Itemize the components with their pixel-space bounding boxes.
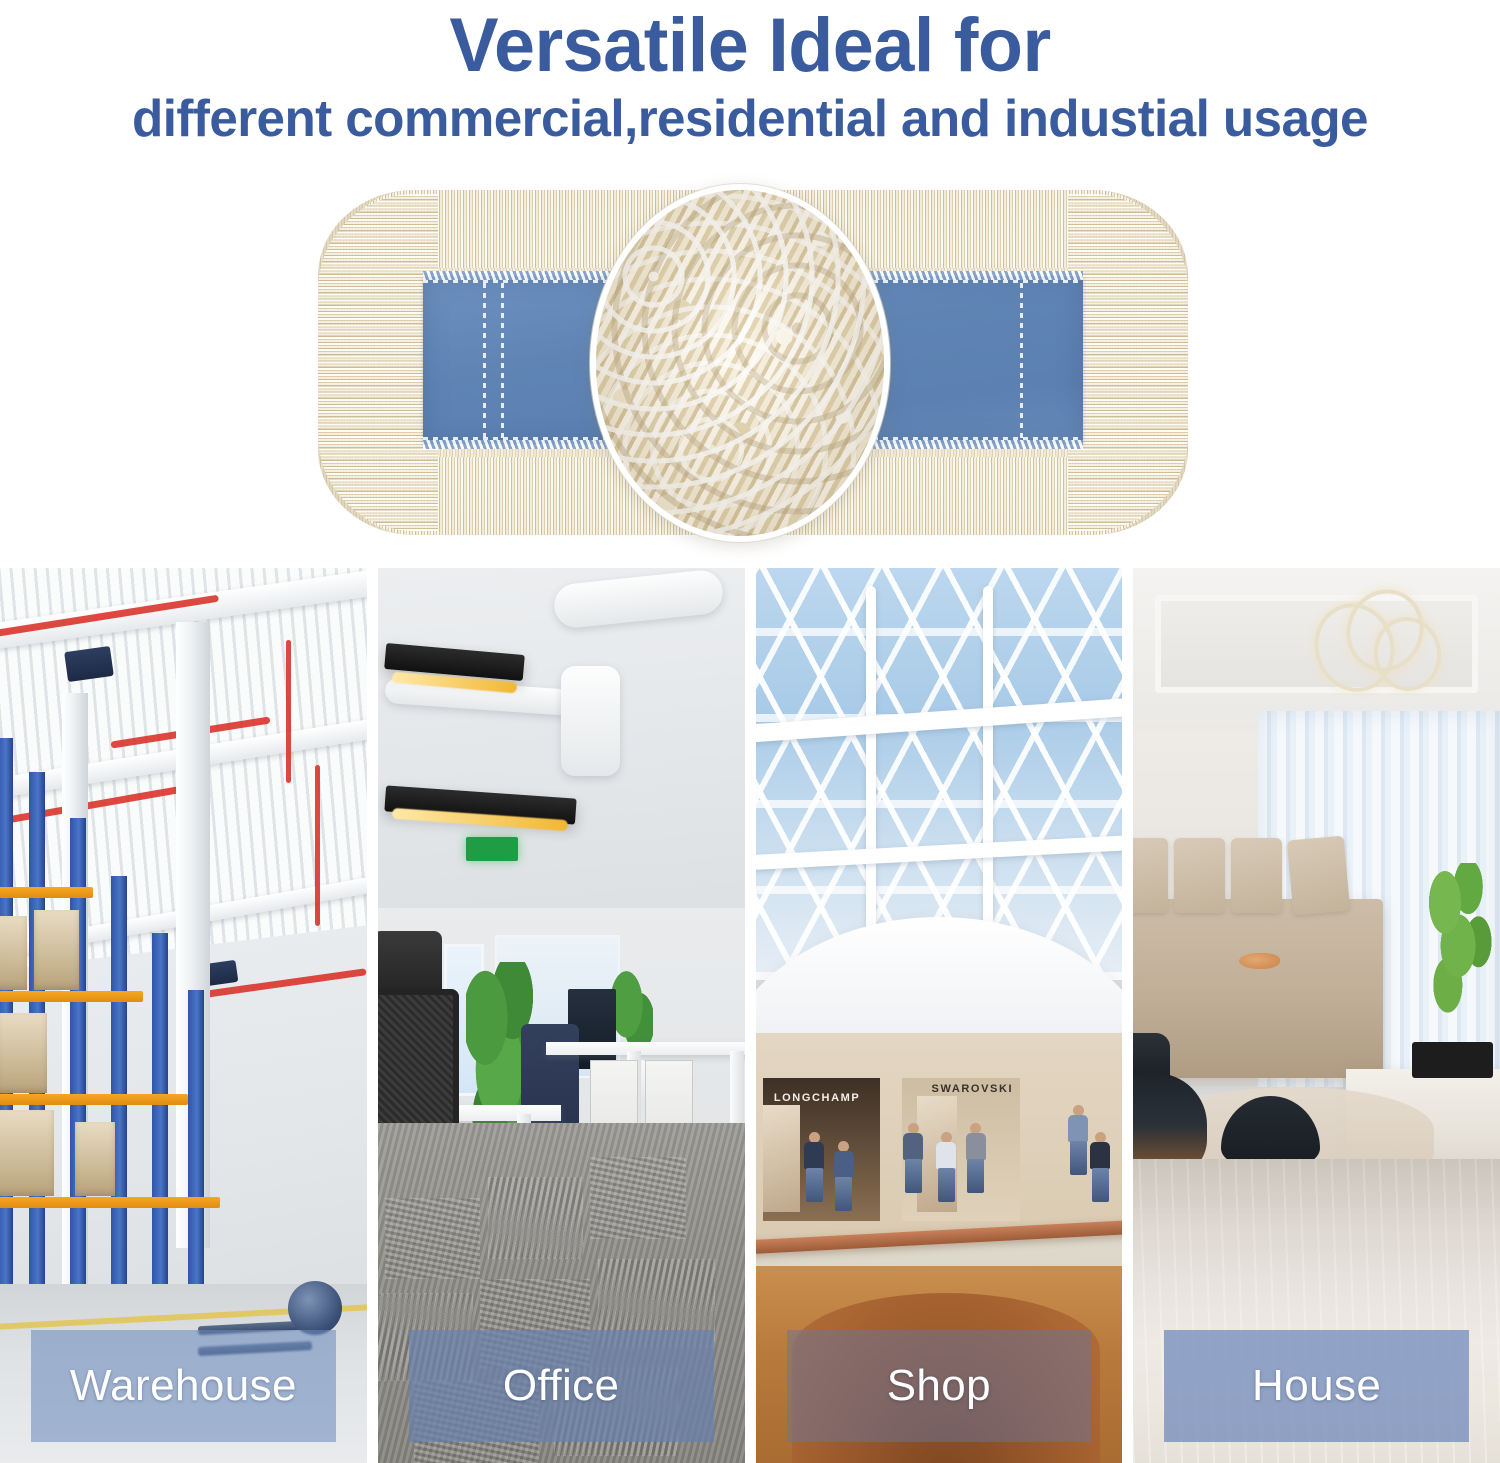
office-desk [546,1042,744,1055]
store-poster [763,1105,800,1212]
panel-label-warehouse: Warehouse [70,1363,297,1409]
sofa-cushion [1287,836,1350,916]
panel-house[interactable]: House [1133,568,1500,1463]
indoor-plant [1423,863,1496,1060]
shop-scene: LONGCHAMP SWAROVSKI [756,568,1123,1463]
warehouse-light-fixture [64,645,114,681]
rack-upright [188,990,204,1311]
sofa-cushion [1174,838,1226,913]
store-sign-swarovski: SWAROVSKI [932,1083,1014,1095]
hvac-duct [561,666,620,776]
panel-label-house: House [1252,1363,1381,1409]
carpet-tile [590,1157,685,1239]
rack-beam [0,1197,220,1208]
panel-shop[interactable]: LONGCHAMP SWAROVSKI [756,568,1123,1463]
shopper-torso [966,1133,986,1160]
panel-label-office: Office [503,1363,620,1409]
sofa-cushion [1133,838,1168,913]
dust-mop-product-image [318,190,1188,535]
shopper-torso [903,1133,923,1160]
panel-warehouse[interactable]: Warehouse [0,568,367,1463]
ring-chandelier [1309,586,1456,729]
carpet-tile [385,1198,480,1280]
pallet-load [0,1013,47,1093]
sprinkler-drop [315,765,320,926]
shopper-legs [905,1159,922,1193]
carpet-tile [488,1177,583,1259]
rack-upright [152,933,168,1311]
emergency-exit-sign [466,837,518,861]
tea-tray [1412,1042,1493,1078]
yarn-vignette [596,190,884,536]
shopper-legs [1070,1141,1087,1175]
mop-pocket-stitch-left [483,282,486,438]
shopper-legs [835,1177,852,1211]
usage-photo-strip: Warehouse [0,568,1500,1463]
office-scene [378,568,745,1463]
warehouse-scene [0,568,367,1463]
roof-truss [866,586,876,944]
pallet-load [34,910,79,990]
pallet-jack-wheel [288,1281,342,1335]
mop-pocket-stitch-right [1020,282,1023,438]
headline-block: Versatile Ideal for different commercial… [0,0,1500,165]
page-title: Versatile Ideal for [23,0,1478,88]
shopper-legs [806,1168,823,1202]
shopper-torso [936,1142,956,1169]
house-scene [1133,568,1500,1463]
rack-beam [0,1094,188,1105]
roof-truss [983,586,993,926]
shopper-torso [804,1142,824,1169]
magnifier-oval-inset [590,184,890,542]
product-stage [0,170,1500,555]
rack-beam [0,991,143,1002]
page-subtitle: different commercial,residential and ind… [11,90,1489,148]
pallet-load [0,1110,54,1196]
shopper-torso [1090,1142,1110,1169]
pallet-load [75,1122,116,1196]
panel-label-shop: Shop [887,1363,991,1409]
shopper-legs [1092,1168,1109,1202]
pallet-load [0,916,27,990]
pallet-racking-zone [0,738,220,1311]
shopper-legs [967,1159,984,1193]
sofa-cushion [1231,838,1283,913]
shopper-torso [834,1151,854,1178]
label-band-office: Office [409,1330,714,1442]
panel-office[interactable]: Office [378,568,745,1463]
shopper-legs [938,1168,955,1202]
label-band-warehouse: Warehouse [31,1330,336,1442]
mop-fringe-cap-left [318,194,438,531]
marketing-image: Versatile Ideal for different commercial… [0,0,1500,1463]
mop-fringe-cap-right [1068,194,1188,531]
label-band-shop: Shop [787,1330,1092,1442]
shopper-torso [1068,1115,1088,1142]
rack-beam [0,887,93,898]
teddy-bear [1239,953,1280,969]
mop-pocket-stitch-left-2 [501,282,504,438]
label-band-house: House [1164,1330,1469,1442]
sprinkler-drop [286,640,291,783]
store-sign-longchamp: LONGCHAMP [774,1092,861,1104]
